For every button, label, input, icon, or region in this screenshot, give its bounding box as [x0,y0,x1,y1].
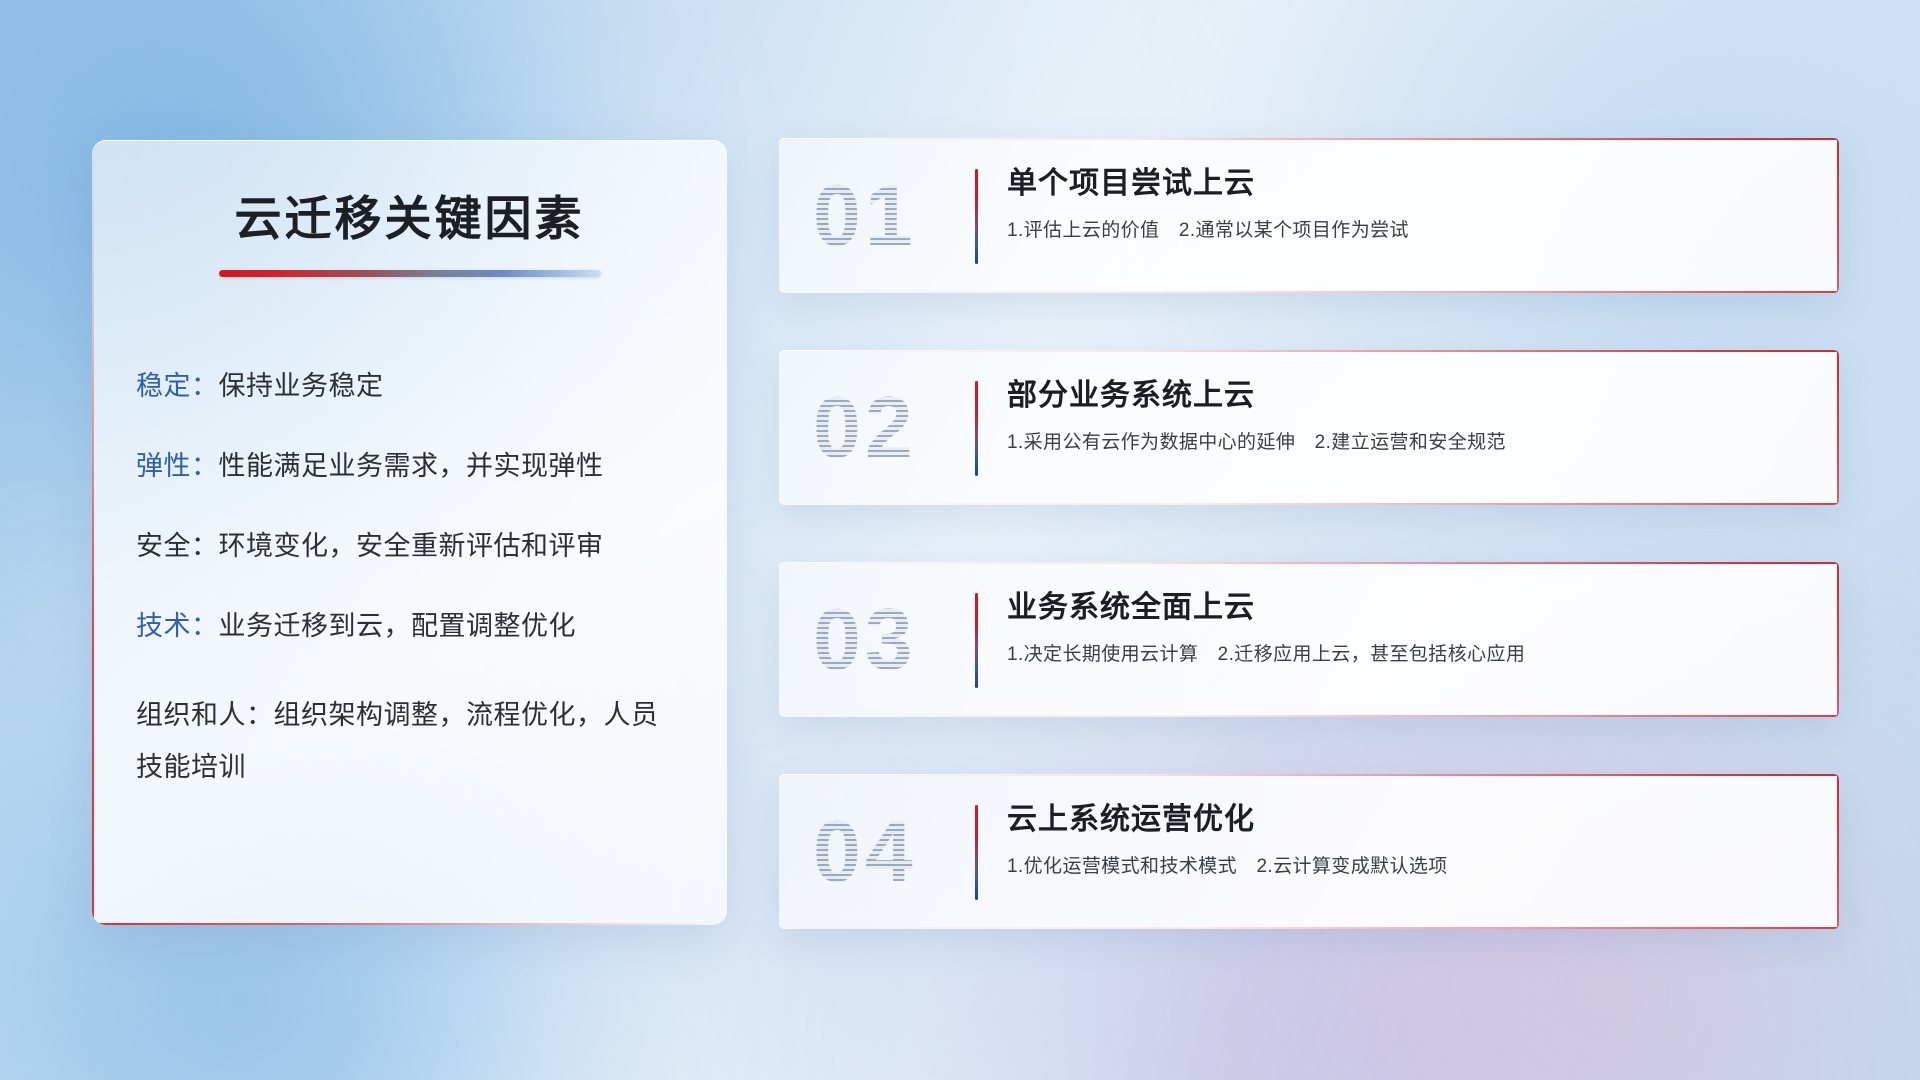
factor-text: 性能满足业务需求，并实现弹性 [219,451,604,481]
stage-description: 1.决定长期使用云计算 2.迁移应用上云，甚至包括核心应用 [1007,643,1805,668]
card-bottom-rule [779,927,1839,929]
card-bottom-rule [779,715,1839,717]
factor-label: 安全： [136,531,219,561]
factor-label: 稳定： [136,371,219,401]
factor-label: 弹性： [136,451,219,481]
stage-card-01[interactable]: 01 01 单个项目尝试上云 1.评估上云的价值 2.通常以某个项目作为尝试 [779,138,1839,293]
stage-description: 1.评估上云的价值 2.通常以某个项目作为尝试 [1007,219,1805,244]
stage-number: 03 [813,597,917,683]
stage-title: 单个项目尝试上云 [1007,166,1805,202]
slide-stage: 云迁移关键因素 稳定：保持业务稳定 弹性：性能满足业务需求，并实现弹性 安全：环… [0,0,1920,1080]
stage-accent-bar [975,805,978,900]
factor-text: 业务迁移到云，配置调整优化 [219,611,577,641]
list-item: 组织和人：组织架构调整，流程优化，人员技能培训 [136,689,683,794]
stage-number: 01 [813,173,917,259]
stage-description: 1.采用公有云作为数据中心的延伸 2.建立运营和安全规范 [1007,431,1805,456]
list-item: 技术：业务迁移到云，配置调整优化 [136,609,683,645]
factor-text: 保持业务稳定 [219,371,384,401]
card-bottom-rule [779,503,1839,505]
migration-stage-cards: 01 01 单个项目尝试上云 1.评估上云的价值 2.通常以某个项目作为尝试 0… [779,138,1839,986]
card-bottom-rule [779,291,1839,293]
stage-title: 部分业务系统上云 [1007,378,1805,414]
stage-accent-bar [975,593,978,688]
stage-number: 02 [813,385,917,471]
page-title: 云迁移关键因素 [136,192,683,246]
factor-label: 技术： [136,611,219,641]
stage-card-04[interactable]: 04 04 云上系统运营优化 1.优化运营模式和技术模式 2.云计算变成默认选项 [779,774,1839,929]
list-item: 弹性：性能满足业务需求，并实现弹性 [136,449,683,485]
list-item: 稳定：保持业务稳定 [136,369,683,405]
title-underline-rule [219,270,601,277]
stage-title: 云上系统运营优化 [1007,802,1805,838]
stage-card-03[interactable]: 03 03 业务系统全面上云 1.决定长期使用云计算 2.迁移应用上云，甚至包括… [779,562,1839,717]
list-item: 安全：环境变化，安全重新评估和评审 [136,529,683,565]
stage-card-02[interactable]: 02 02 部分业务系统上云 1.采用公有云作为数据中心的延伸 2.建立运营和安… [779,350,1839,505]
stage-title: 业务系统全面上云 [1007,590,1805,626]
key-factors-panel: 云迁移关键因素 稳定：保持业务稳定 弹性：性能满足业务需求，并实现弹性 安全：环… [92,140,727,925]
factor-text: 环境变化，安全重新评估和评审 [219,531,604,561]
stage-number: 04 [813,809,917,895]
stage-description: 1.优化运营模式和技术模式 2.云计算变成默认选项 [1007,855,1805,880]
stage-accent-bar [975,169,978,264]
factor-label: 组织和人： [136,700,274,730]
stage-accent-bar [975,381,978,476]
factor-list: 稳定：保持业务稳定 弹性：性能满足业务需求，并实现弹性 安全：环境变化，安全重新… [136,369,683,794]
